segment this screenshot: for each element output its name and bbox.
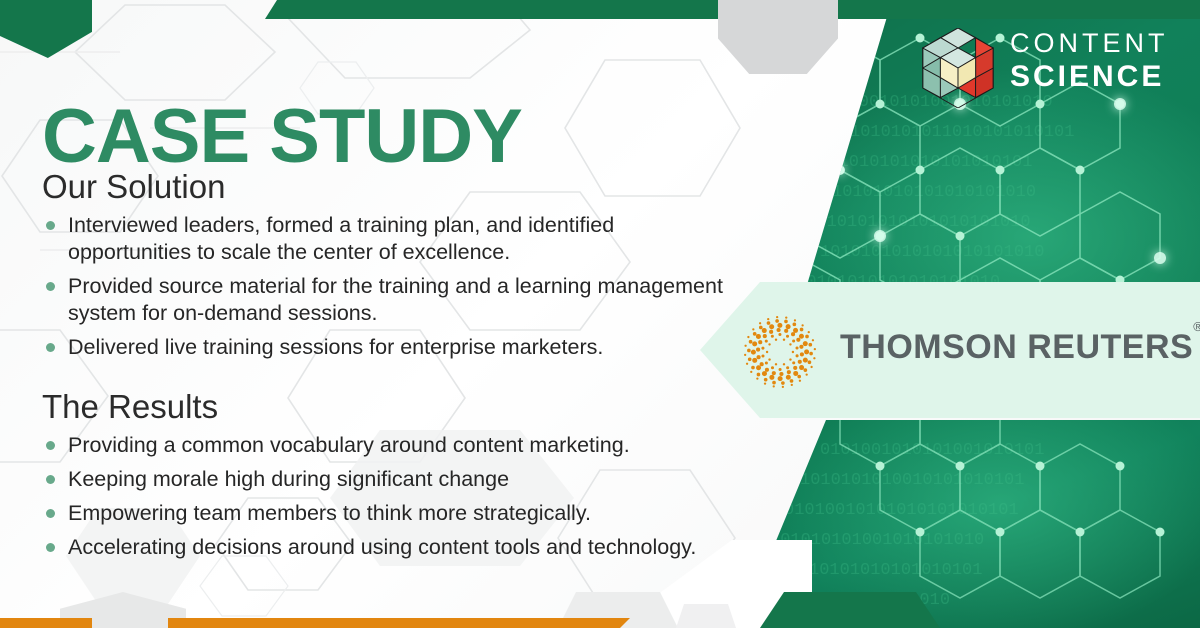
bullet-dot-icon (46, 509, 55, 518)
svg-text:010101010101010101010: 010101010101010101010 (786, 273, 1000, 292)
content-science-wordmark: CONTENT SCIENCE (1010, 28, 1169, 93)
list-item: Delivered live training sessions for ent… (42, 334, 742, 361)
svg-text:101010101001010101010: 101010101001010101010 (770, 531, 984, 550)
logo-line-science: SCIENCE (1010, 60, 1169, 94)
bullet-dot-icon (46, 475, 55, 484)
list-item: Accelerating decisions around using cont… (42, 534, 742, 561)
list-item-text: Interviewed leaders, formed a training p… (68, 213, 614, 264)
list-item: Empowering team members to think more st… (42, 500, 742, 527)
list-item: Interviewed leaders, formed a training p… (42, 212, 742, 266)
svg-text:01010101010101010101010: 01010101010101010101010 (796, 213, 1031, 232)
list-item-text: Providing a common vocabulary around con… (68, 433, 630, 457)
list-item-text: Accelerating decisions around using cont… (68, 535, 696, 559)
svg-text:0101001010101001010101: 0101001010101001010101 (820, 441, 1044, 460)
svg-text:0101010101010101010101: 0101010101010101010101 (808, 153, 1032, 172)
svg-text:1010101011010101010101: 1010101011010101010101 (850, 123, 1074, 142)
list-item-text: Provided source material for the trainin… (68, 274, 723, 325)
content-science-logo: CONTENT SCIENCE (918, 26, 1178, 110)
thomson-reuters-wordmark: THOMSON REUTERS® (840, 328, 1200, 367)
results-bullet-list: Providing a common vocabulary around con… (42, 432, 742, 561)
bullet-dot-icon (46, 543, 55, 552)
svg-text:1010101010101010101010: 1010101010101010101010 (820, 243, 1044, 262)
hexagon-network-icon-bottom: 0101001010101001010101 10101010100101010… (700, 420, 1200, 628)
wordmark-text: THOMSON REUTERS (840, 328, 1193, 366)
bullet-dot-icon (46, 282, 55, 291)
bullet-dot-icon (46, 441, 55, 450)
section-our-solution: Our Solution Interviewed leaders, formed… (42, 168, 742, 368)
page-title: CASE STUDY (42, 99, 522, 175)
list-item-text: Delivered live training sessions for ent… (68, 335, 603, 359)
list-item: Keeping morale high during significant c… (42, 466, 742, 493)
section-title-solution: Our Solution (42, 168, 742, 206)
svg-text:10101010101010101010: 10101010101010101010 (832, 183, 1036, 202)
section-the-results: The Results Providing a common vocabular… (42, 388, 742, 568)
logo-line-content: CONTENT (1010, 28, 1169, 60)
case-study-poster: 01010010101001010101010 1010101011010101… (0, 0, 1200, 628)
list-item: Providing a common vocabulary around con… (42, 432, 742, 459)
solution-bullet-list: Interviewed leaders, formed a training p… (42, 212, 742, 361)
poster-content: CASE STUDY Our Solution Interviewed lead… (0, 0, 760, 628)
bottom-green-trapezoid (760, 592, 940, 628)
kinesis-dots-icon (742, 314, 818, 390)
bullet-dot-icon (46, 221, 55, 230)
cube-hexagon-icon (918, 28, 998, 108)
list-item-text: Keeping morale high during significant c… (68, 467, 509, 491)
section-title-results: The Results (42, 388, 742, 426)
svg-text:10101010101010101010: 10101010101010101010 (746, 591, 950, 610)
registered-trademark-icon: ® (1193, 319, 1200, 334)
svg-text:0101010101010101010101: 0101010101010101010101 (758, 561, 982, 580)
bullet-dot-icon (46, 343, 55, 352)
svg-text:01010010101010101010101: 01010010101010101010101 (784, 501, 1019, 520)
green-tech-panel-bottom: 0101001010101001010101 10101010100101010… (700, 420, 1200, 628)
svg-text:1010101010010101010101: 1010101010010101010101 (800, 471, 1024, 490)
list-item-text: Empowering team members to think more st… (68, 501, 591, 525)
thomson-reuters-logo: THOMSON REUTERS® (742, 312, 1182, 392)
list-item: Provided source material for the trainin… (42, 273, 742, 327)
